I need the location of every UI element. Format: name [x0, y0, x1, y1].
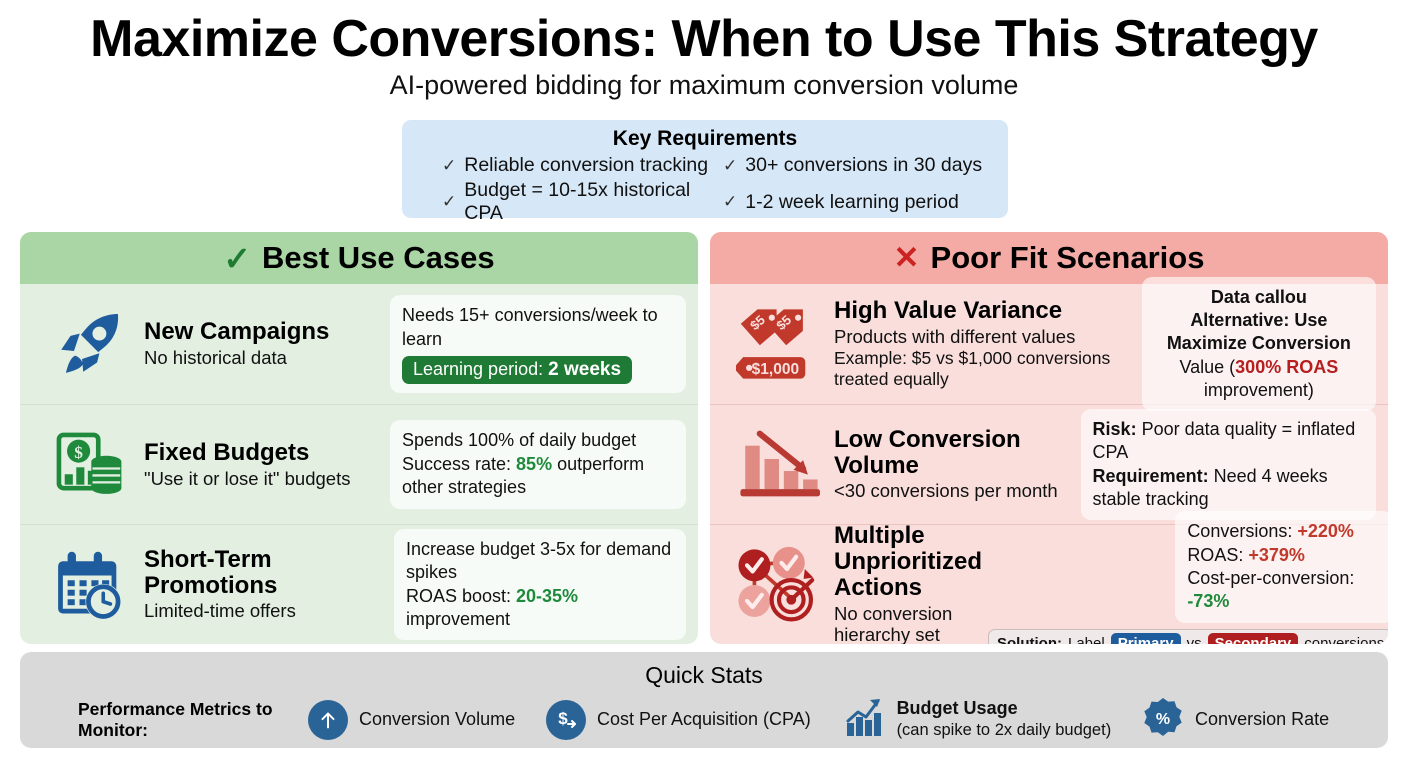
callout-highlight: 20-35% [516, 586, 578, 606]
solution-pre: Label [1068, 635, 1105, 644]
price-tags-icon: $5 $5 $1,000 [724, 303, 834, 385]
row-detail: Example: $5 vs $1,000 conversions treate… [834, 348, 1136, 389]
best-use-case-row: Short-Term Promotions Limited-time offer… [20, 524, 698, 644]
poor-fit-text: High Value Variance Products with differ… [834, 298, 1142, 389]
row-subtitle: Limited-time offers [144, 600, 388, 622]
callout-line-2: Success rate: 85% outperform other strat… [402, 453, 674, 500]
row-title: New Campaigns [144, 319, 384, 345]
quick-stat-item-budget-usage: Budget Usage (can spike to 2x daily budg… [842, 695, 1142, 744]
best-use-case-row: New Campaigns No historical data Needs 1… [20, 284, 698, 404]
metric-line: Conversions: +220% [1187, 520, 1381, 543]
metric-line: Cost-per-conversion: -73% [1187, 567, 1381, 614]
poor-fit-text: Multiple Unprioritized Actions No conver… [834, 523, 988, 644]
key-requirements-box: Key Requirements ✓ Reliable conversion t… [402, 120, 1008, 218]
metrics-stack: Conversions: +220% ROAS: +379% Cost-per-… [988, 511, 1388, 644]
solution-vs: vs [1187, 635, 1202, 644]
page-title: Maximize Conversions: When to Use This S… [0, 0, 1408, 68]
row-title: Short-Term Promotions [144, 547, 388, 599]
row-title: Multiple Unprioritized Actions [834, 523, 982, 601]
best-use-case-callout: Needs 15+ conversions/week to learn Lear… [390, 295, 686, 393]
callout-line-2: Value (300% ROAS improvement) [1154, 356, 1364, 403]
metrics-callout: Conversions: +220% ROAS: +379% Cost-per-… [1175, 511, 1388, 623]
page-subtitle: AI-powered bidding for maximum conversio… [0, 70, 1408, 101]
risk-requirement-callout: Risk: Poor data quality = inflated CPA R… [1081, 409, 1376, 521]
check-icon: ✓ [723, 192, 737, 212]
poor-fit-row: $5 $5 $1,000 High Value Variance Product… [710, 284, 1388, 404]
quick-stat-sub: (can spike to 2x daily budget) [897, 721, 1112, 739]
key-requirement-label: Reliable conversion tracking [464, 154, 708, 177]
callout-pre: Success rate: [402, 454, 516, 474]
callout-post: improvement) [1204, 380, 1314, 400]
quick-stat-item-conversion-volume: Conversion Volume [308, 700, 546, 740]
svg-text:$1,000: $1,000 [752, 361, 799, 378]
data-callout-box: Data callou Alternative: Use Maximize Co… [1142, 277, 1376, 412]
best-use-case-text: Short-Term Promotions Limited-time offer… [144, 547, 394, 623]
quick-stat-label: Conversion Volume [359, 709, 515, 731]
key-requirement-label: 30+ conversions in 30 days [745, 154, 982, 177]
key-requirement-item: ✓ Reliable conversion tracking [442, 154, 713, 177]
row-title: High Value Variance [834, 298, 1136, 324]
callout-pre: ROAS boost: [406, 586, 516, 606]
row-subtitle: "Use it or lose it" budgets [144, 468, 384, 490]
poor-fit-row: Low Conversion Volume <30 conversions pe… [710, 404, 1388, 524]
poor-fit-scenarios-panel: ✕ Poor Fit Scenarios $5 $5 $1,000 [710, 232, 1388, 644]
pill-label: Learning period: [413, 359, 543, 379]
poor-fit-row: Multiple Unprioritized Actions No conver… [710, 524, 1388, 644]
best-use-case-text: New Campaigns No historical data [144, 319, 390, 369]
callout-line: Alternative: Use Maximize Conversion [1154, 309, 1364, 356]
key-requirements-list: ✓ Reliable conversion tracking ✓ 30+ con… [416, 154, 994, 225]
badge-primary: Primary [1111, 633, 1181, 644]
best-use-case-callout: Increase budget 3-5x for demand spikes R… [394, 529, 686, 641]
key-requirement-label: Budget = 10-15x historical CPA [464, 179, 713, 225]
metric-label: Conversions: [1187, 521, 1297, 541]
callout-highlight: 85% [516, 454, 552, 474]
callout-line: Needs 15+ conversions/week to learn [402, 304, 674, 351]
check-icon: ✓ [442, 156, 456, 176]
quick-stat-label: Conversion Rate [1195, 709, 1329, 731]
best-use-case-text: Fixed Budgets "Use it or lose it" budget… [144, 440, 390, 490]
infographic-page: Maximize Conversions: When to Use This S… [0, 0, 1408, 768]
quick-stat-label: Cost Per Acquisition (CPA) [597, 709, 811, 731]
metric-value: +379% [1248, 545, 1305, 565]
metric-label: ROAS: [1187, 545, 1248, 565]
callout-line: Increase budget 3-5x for demand spikes [406, 538, 674, 585]
row-subtitle: No conversion hierarchy set [834, 603, 982, 644]
key-requirements-heading: Key Requirements [416, 127, 994, 151]
quick-stat-item-conversion-rate: % Conversion Rate [1142, 696, 1360, 743]
callout-post: improvement [406, 609, 510, 629]
badge-secondary: Secondary [1208, 633, 1299, 644]
key-requirement-label: 1-2 week learning period [745, 191, 959, 214]
check-icon: ✓ [723, 156, 737, 176]
callout-pre: Value ( [1179, 357, 1235, 377]
solution-bar: Solution: Label Primary vs Secondary con… [988, 629, 1388, 644]
key-requirement-item: ✓ Budget = 10-15x historical CPA [442, 179, 713, 225]
row-subtitle: No historical data [144, 347, 384, 369]
pill-value: 2 weeks [548, 359, 621, 380]
poor-fit-title: Poor Fit Scenarios [931, 240, 1205, 276]
callout-line-2: Requirement: Need 4 weeks stable trackin… [1093, 465, 1364, 512]
learning-period-badge: Learning period: 2 weeks [402, 356, 632, 384]
declining-bar-chart-icon [724, 428, 834, 502]
metric-line: ROAS: +379% [1187, 544, 1381, 567]
svg-text:%: % [1156, 711, 1170, 728]
metric-value: -73% [1187, 591, 1229, 611]
dollar-arrow-icon: $ [546, 700, 586, 740]
quick-stat-item-cpa: $ Cost Per Acquisition (CPA) [546, 700, 842, 740]
callout-label: Risk: [1093, 419, 1137, 439]
callout-highlight: 300% ROAS [1235, 357, 1338, 377]
best-use-cases-header: ✓ Best Use Cases [20, 232, 698, 284]
check-icon: ✓ [442, 192, 456, 212]
metric-label: Cost-per-conversion: [1187, 568, 1354, 588]
callout-label: Requirement: [1093, 466, 1209, 486]
key-requirement-item: ✓ 30+ conversions in 30 days [723, 154, 994, 177]
best-use-case-row: $ [20, 404, 698, 524]
metric-value: +220% [1297, 521, 1354, 541]
row-subtitle: Products with different values [834, 326, 1136, 348]
row-title: Low Conversion Volume [834, 427, 1075, 479]
callout-line-2: ROAS boost: 20-35% improvement [406, 585, 674, 632]
target-checkmarks-icon [724, 545, 834, 625]
quick-stats-label: Performance Metrics to Monitor: [78, 699, 308, 741]
best-use-cases-title: Best Use Cases [262, 240, 495, 276]
poor-fit-text: Low Conversion Volume <30 conversions pe… [834, 427, 1081, 503]
best-use-case-callout: Spends 100% of daily budget Success rate… [390, 420, 686, 508]
callout-line: Risk: Poor data quality = inflated CPA [1093, 418, 1364, 465]
close-x-icon: ✕ [894, 240, 920, 276]
svg-text:$: $ [74, 443, 83, 462]
solution-label: Solution: [997, 635, 1062, 644]
row-title: Fixed Budgets [144, 440, 384, 466]
growth-chart-icon [842, 695, 886, 744]
key-requirement-item: ✓ 1-2 week learning period [723, 179, 994, 225]
callout-line: Spends 100% of daily budget [402, 429, 674, 452]
check-icon: ✓ [223, 239, 251, 278]
quick-stats-heading: Quick Stats [20, 652, 1388, 689]
quick-stats-bar: Quick Stats Performance Metrics to Monit… [20, 652, 1388, 748]
quick-stats-row: Performance Metrics to Monitor: Conversi… [20, 689, 1388, 744]
rocket-icon [34, 307, 144, 381]
callout-title: Data callou [1154, 286, 1364, 309]
svg-text:$: $ [558, 709, 568, 728]
percent-badge-icon: % [1142, 696, 1184, 743]
money-budget-icon: $ [34, 430, 144, 500]
row-subtitle: <30 conversions per month [834, 480, 1075, 502]
up-arrow-icon [308, 700, 348, 740]
best-use-cases-panel: ✓ Best Use Cases New Campaigns No hi [20, 232, 698, 644]
quick-stat-text: Budget Usage (can spike to 2x daily budg… [897, 698, 1112, 741]
calendar-clock-icon [34, 549, 144, 621]
solution-post: conversions [1304, 635, 1384, 644]
quick-stat-label: Budget Usage [897, 698, 1018, 718]
